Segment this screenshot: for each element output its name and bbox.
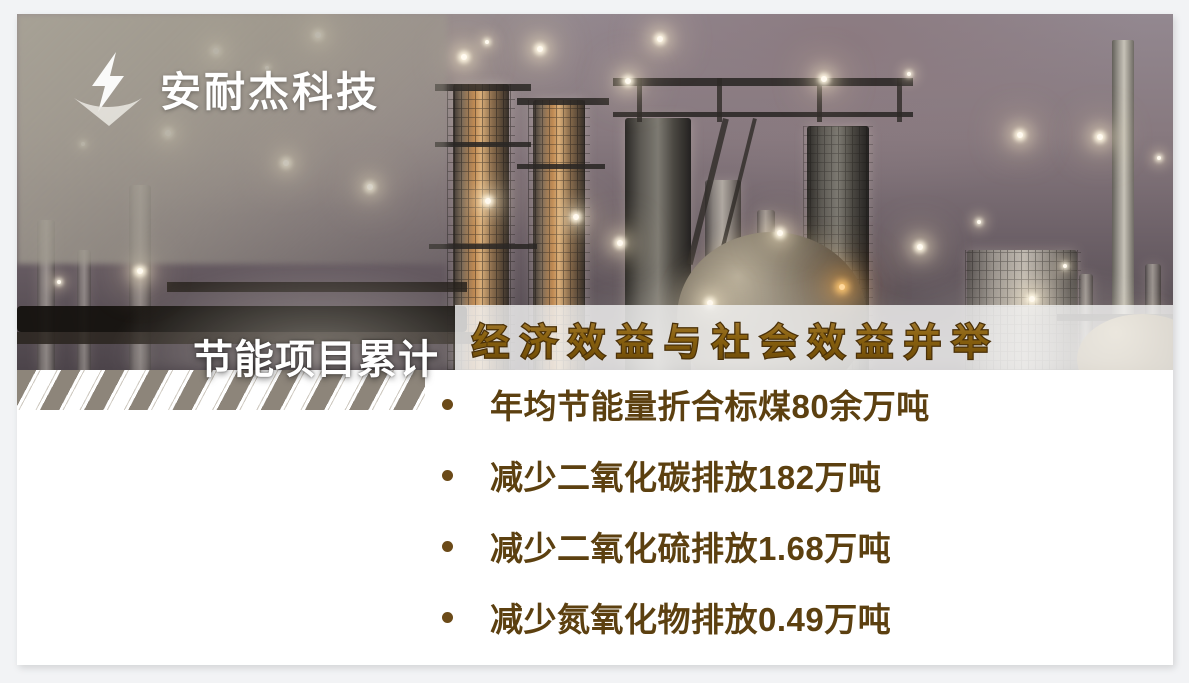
plant-light <box>821 76 827 82</box>
list-item-label: 减少氮氧化物排放0.49万吨 <box>490 593 891 641</box>
slide-canvas: 安耐杰科技 经济效益与社会效益并举 经济效益与社会效益并举 节能项目累计 年均节… <box>17 14 1173 665</box>
list-item-label: 减少二氧化碳排放182万吨 <box>490 451 882 499</box>
support-beam <box>637 78 642 122</box>
bullet-dot-icon <box>442 470 453 481</box>
plant-light <box>537 46 543 52</box>
plant-light <box>625 78 631 84</box>
plant-light <box>657 36 663 42</box>
plant-light <box>1017 132 1023 138</box>
bullet-dot-icon <box>442 541 453 552</box>
bullet-list: 年均节能量折合标煤80余万吨 减少二氧化碳排放182万吨 减少二氧化硫排放1.6… <box>442 380 1142 664</box>
plant-light <box>485 40 489 44</box>
brand-name: 安耐杰科技 <box>160 58 380 118</box>
gantry-deck <box>613 78 913 86</box>
platform-deck <box>435 84 531 91</box>
gantry-deck <box>613 112 913 117</box>
lightning-bolt-chevron-icon <box>72 50 146 126</box>
plant-light <box>907 72 911 76</box>
list-item: 减少氮氧化物排放0.49万吨 <box>442 593 1142 664</box>
section-title: 节能项目累计 <box>193 327 439 385</box>
platform-deck <box>517 98 609 105</box>
list-item-label: 减少二氧化硫排放1.68万吨 <box>490 522 891 570</box>
list-item-label: 年均节能量折合标煤80余万吨 <box>490 380 930 428</box>
list-item: 减少二氧化硫排放1.68万吨 <box>442 522 1142 593</box>
bullet-dot-icon <box>442 612 453 623</box>
plant-light <box>461 54 467 60</box>
support-beam <box>817 78 822 122</box>
brand-logo: 安耐杰科技 <box>72 50 380 126</box>
headline-title: 经济效益与社会效益并举 <box>472 314 1172 364</box>
bullet-dot-icon <box>442 399 453 410</box>
list-item: 减少二氧化碳排放182万吨 <box>442 451 1142 522</box>
support-beam <box>897 78 902 122</box>
support-beam <box>717 78 722 122</box>
list-item: 年均节能量折合标煤80余万吨 <box>442 380 1142 451</box>
